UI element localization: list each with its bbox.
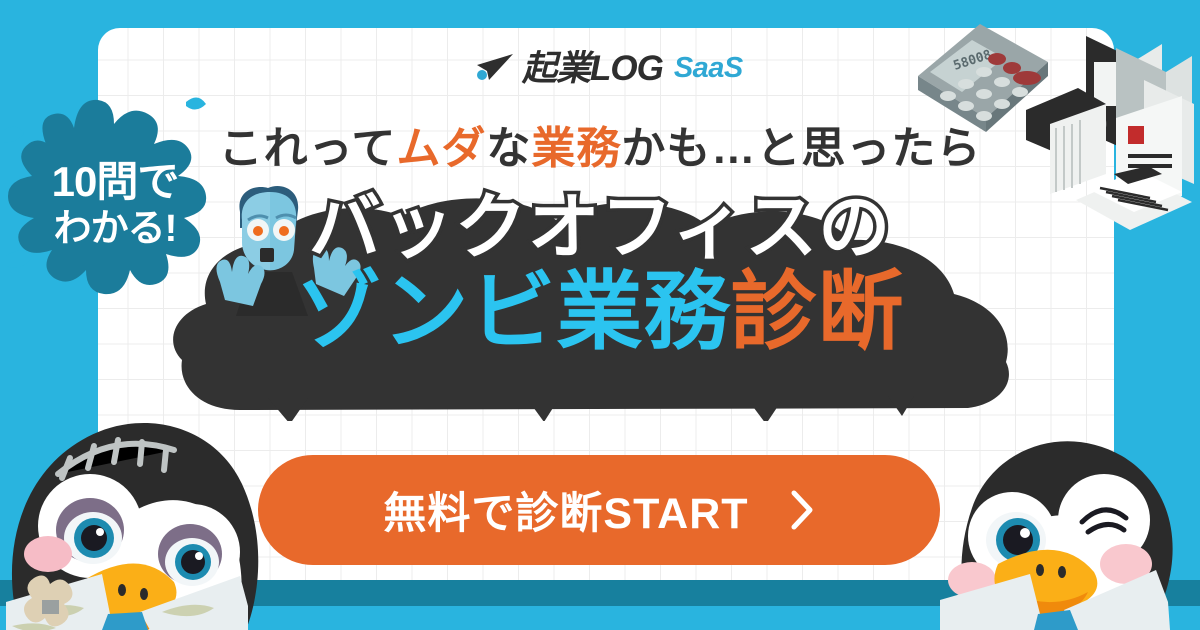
question-count-badge: 10問で わかる! bbox=[0, 86, 230, 324]
subtitle-part2: な bbox=[486, 124, 531, 173]
logo-product-text: SaaS bbox=[674, 54, 743, 83]
chevron-right-icon bbox=[789, 490, 815, 530]
subtitle-part1: これって bbox=[219, 124, 397, 173]
site-logo[interactable]: 起業LOG SaaS bbox=[475, 45, 743, 91]
subtitle-highlight-gyomu: 業務 bbox=[531, 124, 621, 173]
subtitle-part3: かも…と思ったら bbox=[621, 124, 981, 173]
badge-line-1: 10問で bbox=[52, 157, 179, 207]
start-diagnosis-button[interactable]: 無料で診断START bbox=[258, 455, 940, 565]
title-zonbi-gyomu: ゾンビ業務 bbox=[296, 264, 731, 360]
banner-stage: 58008 bbox=[0, 0, 1200, 630]
logo-brand-text: 起業LOG bbox=[522, 51, 663, 86]
badge-text: 10問で わかる! bbox=[0, 86, 230, 324]
penguin-right-illustration bbox=[900, 380, 1200, 630]
cta-label: 無料で診断START bbox=[383, 479, 748, 541]
title-shindan: 診断 bbox=[731, 264, 905, 360]
paper-plane-icon bbox=[475, 52, 515, 84]
badge-line-2: わかる! bbox=[54, 207, 177, 253]
subtitle-highlight-muda: ムダ bbox=[396, 124, 486, 173]
bandage-icon bbox=[24, 576, 72, 627]
penguin-left-illustration bbox=[0, 362, 300, 630]
